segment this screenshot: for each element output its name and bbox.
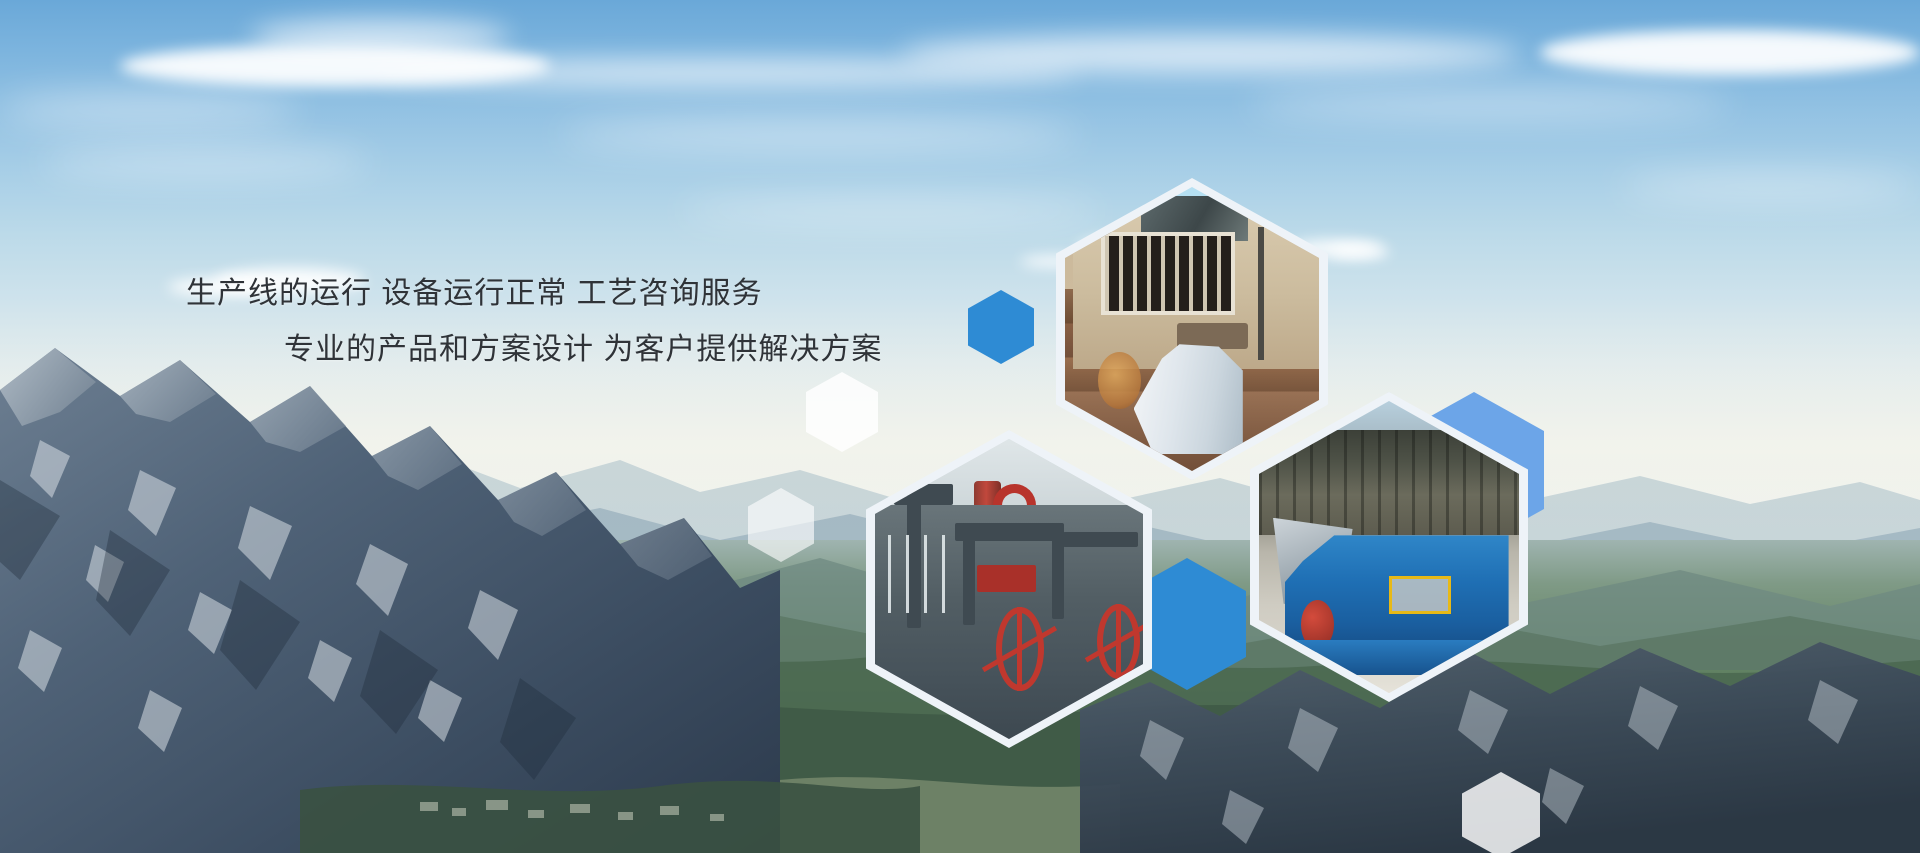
red-panel: [977, 565, 1036, 592]
handrail: [888, 535, 947, 613]
hex-photo-blue-shredder[interactable]: [1250, 392, 1528, 702]
headline-block: 生产线的运行 设备运行正常 工艺咨询服务 专业的产品和方案设计 为客户提供解决方…: [186, 266, 1106, 378]
cloud: [1250, 90, 1730, 118]
cloud: [40, 150, 370, 176]
valley-town: [300, 740, 920, 853]
cloud: [900, 35, 1520, 73]
red-handwheel: [996, 607, 1044, 691]
cloud: [1330, 246, 1390, 258]
cloud: [250, 20, 510, 54]
downpipe: [1258, 227, 1264, 360]
cloud: [1620, 175, 1920, 199]
headline-line-2: 专业的产品和方案设计 为客户提供解决方案: [186, 322, 1106, 378]
yellow-guard-cage: [1389, 576, 1451, 614]
cloud: [680, 200, 1100, 222]
barred-window: [1101, 232, 1236, 314]
cloud: [0, 95, 300, 125]
hero-banner: 生产线的运行 设备运行正常 工艺咨询服务 专业的产品和方案设计 为客户提供解决方…: [0, 0, 1920, 853]
cloud: [1540, 30, 1920, 75]
headline-line-1: 生产线的运行 设备运行正常 工艺咨询服务: [186, 266, 1106, 322]
steel-column: [963, 523, 975, 625]
cloud: [560, 120, 1080, 150]
steel-beam: [1063, 532, 1138, 547]
hex-photo-gray-machines[interactable]: [866, 430, 1152, 748]
window-bars: [1105, 236, 1232, 310]
